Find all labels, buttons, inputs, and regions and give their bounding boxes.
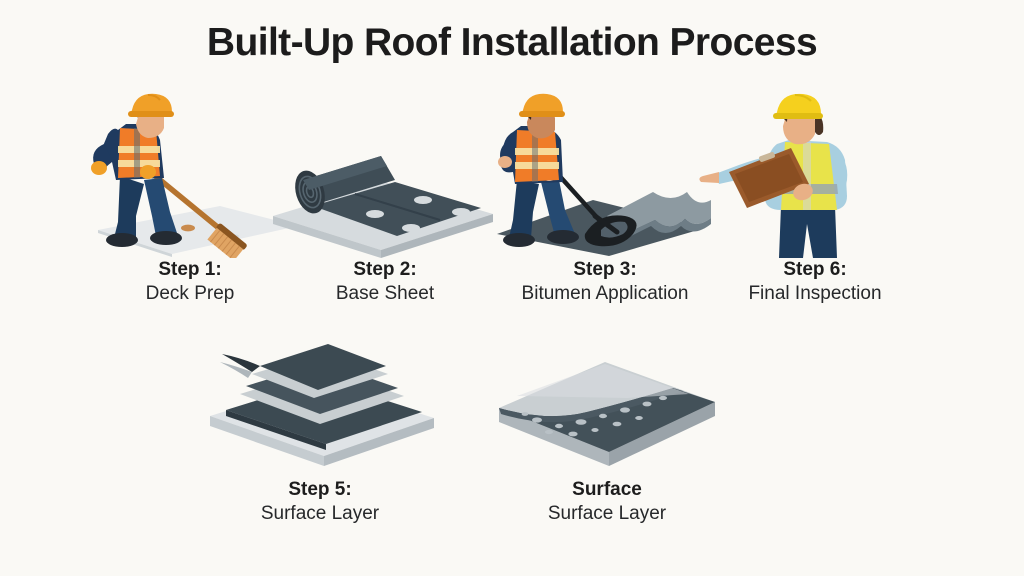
inspector-clipboard-icon — [685, 88, 945, 258]
step-caption-final-inspection: Step 6: Final Inspection — [685, 258, 945, 307]
layered-plies-icon — [190, 330, 450, 480]
step-card-final-inspection: Step 6: Final Inspection — [685, 88, 945, 258]
step-desc-label: Surface Layer — [477, 502, 737, 526]
step-number-label: Step 5: — [190, 478, 450, 502]
step-caption-surface: Surface Surface Layer — [477, 478, 737, 527]
gravel-surfacing-slab-icon — [477, 340, 737, 480]
step-caption-surface-layer: Step 5: Surface Layer — [190, 478, 450, 527]
step-number-label: Surface — [477, 478, 737, 502]
step-desc-label: Final Inspection — [685, 282, 945, 306]
page-title: Built-Up Roof Installation Process — [0, 22, 1024, 65]
infographic-canvas: Built-Up Roof Installation Process — [0, 0, 1024, 576]
step-card-surface: Surface Surface Layer — [477, 340, 737, 480]
step-card-surface-layer: Step 5: Surface Layer — [190, 330, 450, 480]
step-number-label: Step 6: — [685, 258, 945, 282]
step-desc-label: Surface Layer — [190, 502, 450, 526]
